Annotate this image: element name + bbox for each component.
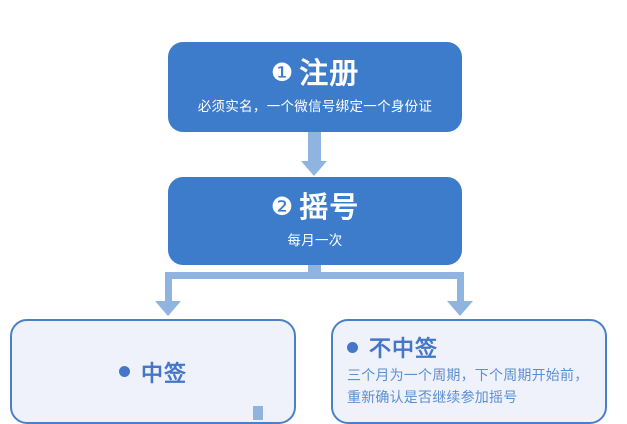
- arrow-head-down-icon: [301, 161, 327, 176]
- bullet-dot-icon: [347, 342, 358, 353]
- step-register-subtitle: 必须实名，一个微信号绑定一个身份证: [198, 99, 433, 117]
- outcome-lose-heading-text: 不中签: [369, 331, 438, 363]
- step-number-badge-2: ❷: [271, 192, 294, 221]
- bullet-dot-icon: [119, 366, 130, 377]
- connector-drop-right: [457, 272, 464, 304]
- outcome-win-heading-text: 中签: [141, 356, 187, 388]
- step-number-badge-1: ❶: [271, 58, 294, 87]
- connector-split-bar: [165, 272, 464, 279]
- arrow-head-down-left-icon: [155, 301, 181, 316]
- connector-drop-left: [165, 272, 172, 304]
- step-lottery-subtitle: 每月一次: [287, 233, 342, 251]
- flowchart: ❶注册 必须实名，一个微信号绑定一个身份证 ❷摇号 每月一次 中签 不中签 三个…: [0, 0, 627, 420]
- connector-stem-below-win: [253, 406, 263, 420]
- step-register-title-text: 注册: [299, 56, 359, 90]
- outcome-lose-heading: 不中签: [347, 331, 591, 363]
- step-lottery-title: ❷摇号: [271, 191, 359, 224]
- outcome-win-heading: 中签: [119, 356, 187, 388]
- connector-stem-register-to-lottery: [308, 132, 321, 164]
- step-register-title: ❶注册: [271, 57, 359, 90]
- step-box-register: ❶注册 必须实名，一个微信号绑定一个身份证: [168, 42, 462, 132]
- step-box-lottery: ❷摇号 每月一次: [168, 177, 462, 265]
- outcome-box-lose: 不中签 三个月为一个周期，下个周期开始前，重新确认是否继续参加摇号: [331, 319, 607, 424]
- arrow-head-down-right-icon: [447, 301, 473, 316]
- outcome-lose-subtitle: 三个月为一个周期，下个周期开始前，重新确认是否继续参加摇号: [347, 366, 591, 409]
- step-lottery-title-text: 摇号: [299, 190, 359, 224]
